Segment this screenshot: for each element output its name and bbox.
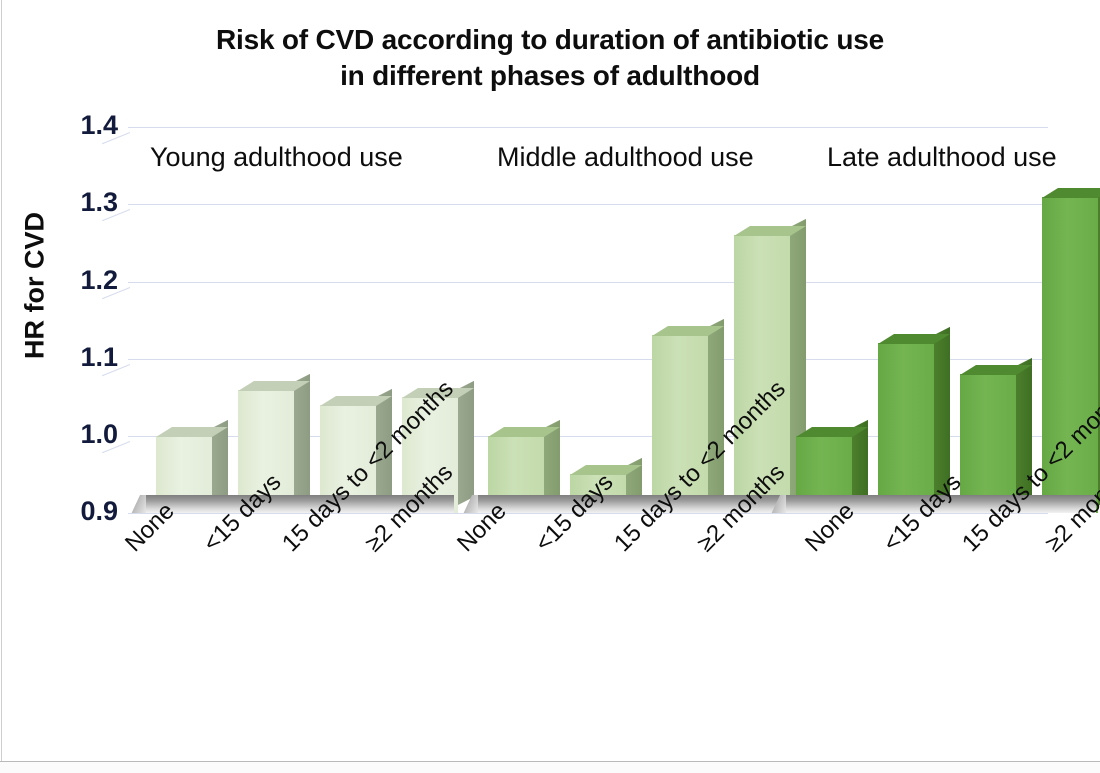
- gridline-1-2: [128, 282, 1048, 283]
- chart-title-line-1: Risk of CVD according to duration of ant…: [216, 24, 884, 55]
- chart-title: Risk of CVD according to duration of ant…: [90, 22, 1010, 94]
- chart-slide: Risk of CVD according to duration of ant…: [0, 0, 1100, 773]
- bar-side-face: [294, 373, 310, 505]
- y-tick-label-1-3: 1.3: [62, 187, 118, 218]
- chart-title-line-2: in different phases of adulthood: [90, 58, 1010, 94]
- bar-top-face: [1042, 188, 1100, 198]
- bar-side-face: [708, 319, 724, 505]
- y-axis-title: HR for CVD: [20, 186, 51, 386]
- bar-side-face: [458, 381, 474, 505]
- y-tick-label-1-2: 1.2: [62, 265, 118, 296]
- gridline-1-4: [128, 127, 1048, 128]
- y-tick-label-1-0: 1.0: [62, 419, 118, 450]
- slide-left-border: [1, 0, 2, 773]
- slide-bottom-strip: [0, 762, 1100, 773]
- bar-late-lt15days[interactable]: [878, 343, 934, 513]
- bar-front-face: [878, 343, 934, 513]
- plot-area: [128, 127, 1048, 513]
- y-tick-label-1-1: 1.1: [62, 342, 118, 373]
- y-tick-label-1-4: 1.4: [62, 110, 118, 141]
- gridline-1-3: [128, 204, 1048, 205]
- y-tick-label-0-9: 0.9: [62, 496, 118, 527]
